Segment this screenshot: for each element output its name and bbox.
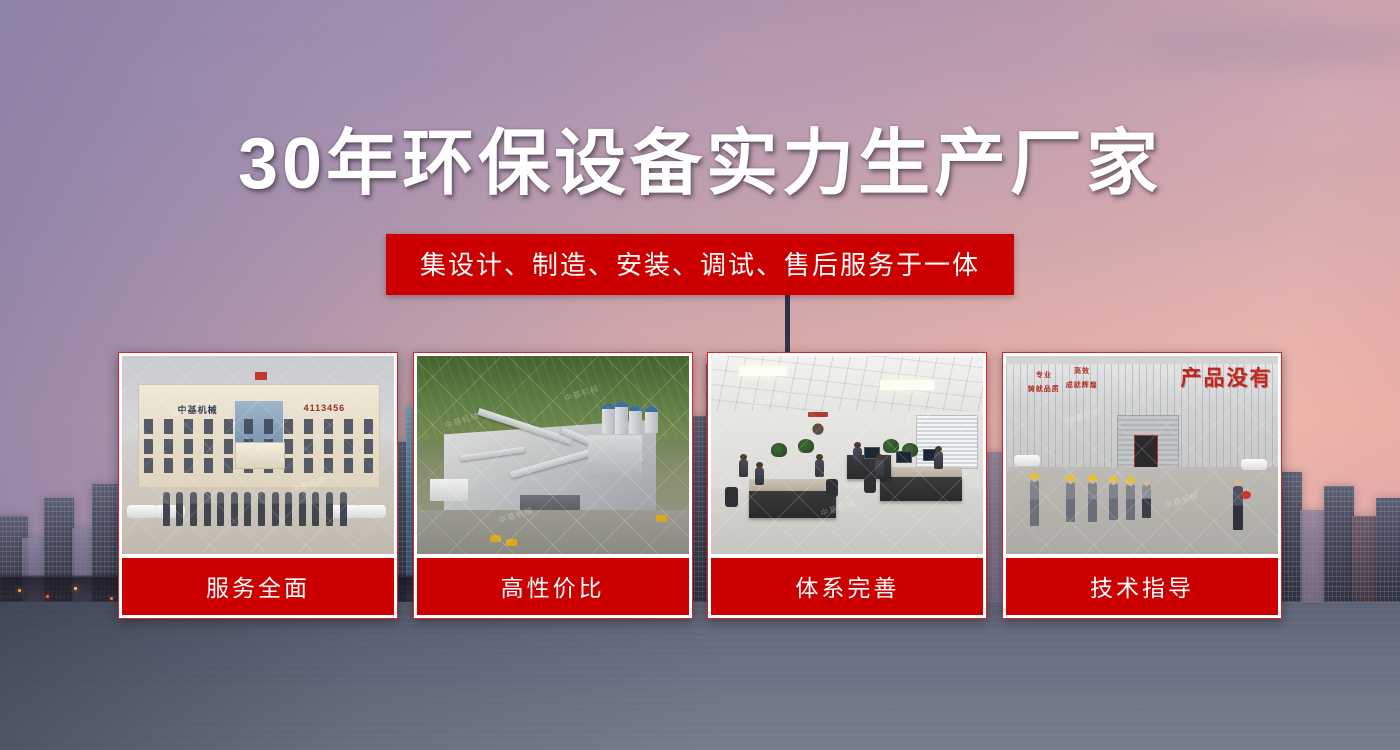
banner-stage: 30年环保设备实力生产厂家 集设计、制造、安装、调试、售后服务于一体 中基机械 … [0,0,1400,750]
factory-slogan-small: 成就辉煌 [1066,380,1098,390]
page-title: 30年环保设备实力生产厂家 [0,128,1400,200]
card-photo-plant-aerial: 中基机械 中基机械 中基机械 [417,356,689,554]
card-photo-office-building: 中基机械 4113456 [122,356,394,554]
cloud-streak [1130,22,1400,68]
feature-card-label: 服务全面 [122,558,394,615]
feature-card[interactable]: 中基机械 中基机械 中基机械 体系完善 [707,352,987,619]
cloud-streak [900,92,1280,118]
factory-slogan-small: 铸就品质 [1028,384,1060,394]
factory-slogan-small: 专业 [1036,370,1052,380]
feature-card[interactable]: 产品没有 专业 铸就品质 高效 成就辉煌 [1002,352,1282,619]
feature-card[interactable]: 中基机械 中基机械 中基机械 高性价比 [413,352,693,619]
river-water [0,602,1400,750]
feature-card-label: 技术指导 [1006,558,1278,615]
subtitle-banner: 集设计、制造、安装、调试、售后服务于一体 [386,234,1014,295]
building-phone-number: 4113456 [304,403,346,413]
feature-card-list: 中基机械 4113456 [118,352,1282,619]
feature-card-label: 高性价比 [417,558,689,615]
cloud-streak [120,60,580,90]
cloud-streak [700,34,1120,68]
feature-card[interactable]: 中基机械 4113456 [118,352,398,619]
card-photo-workers-training: 产品没有 专业 铸就品质 高效 成就辉煌 [1006,356,1278,554]
feature-card-label: 体系完善 [711,558,983,615]
factory-wall-slogan: 产品没有 [1181,362,1273,392]
factory-slogan-small: 高效 [1074,366,1090,376]
card-photo-office-interior: 中基机械 中基机械 中基机械 [711,356,983,554]
subtitle-banner-wrap: 集设计、制造、安装、调试、售后服务于一体 [0,234,1400,295]
